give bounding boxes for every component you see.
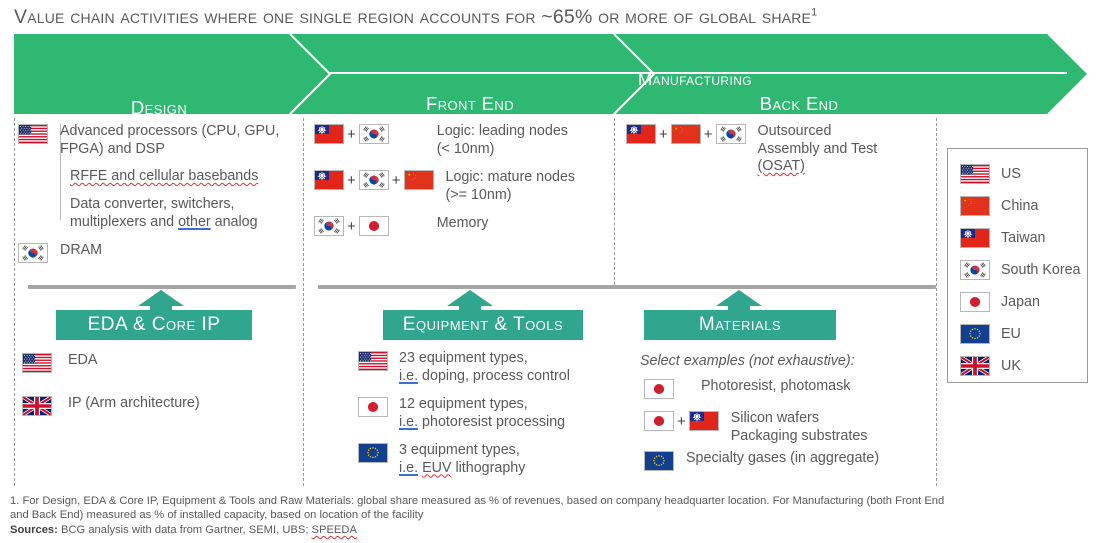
eu-flag-icon (358, 443, 388, 463)
eda-item-2: IP (Arm architecture) (22, 395, 272, 416)
design-item-4: DRAM (18, 242, 248, 263)
equipment-item-1-line2: doping, process control (418, 368, 570, 384)
equipment-item-2-line1: 12 equipment types, (399, 396, 528, 412)
eda-item-2-line1: IP (Arm architecture) (68, 395, 200, 413)
column-divider-frontend-backend (614, 118, 615, 285)
legend-row-uk: UK (960, 350, 1087, 382)
legend-row-us: US (960, 158, 1087, 190)
frontend-item-3-line1: Memory (437, 215, 489, 233)
design-item-1-flags (18, 123, 48, 144)
eda-item-1-flags (22, 352, 52, 373)
page-title-text: Value chain activities where one single … (14, 6, 811, 28)
japan-flag-icon (960, 292, 990, 312)
japan-flag-icon (644, 411, 674, 431)
frontend-item-3: + Memory (314, 215, 604, 236)
materials-item-3-line1: Specialty gases (in aggregate) (686, 450, 879, 468)
eda-core-ip-label: EDA & Core IP (56, 314, 252, 336)
us-flag-icon (18, 124, 48, 144)
design-item-1: Advanced processors (CPU, GPU, FPGA) and… (18, 123, 293, 158)
taiwan-flag-icon (314, 170, 344, 190)
eu-flag-icon (960, 324, 990, 344)
equipment-item-3-ie: i.e. (399, 460, 418, 476)
design-item-1-line1: Advanced processors (CPU, GPU, (60, 123, 279, 139)
plus-sign: + (677, 413, 686, 430)
divider-rule-design (28, 285, 296, 289)
legend-label-eu: EU (1001, 326, 1021, 342)
backend-item-1-line1: Outsourced (758, 123, 832, 139)
legend-row-japan: Japan (960, 286, 1087, 318)
backend-item-1-line3: (OSAT) (758, 158, 805, 174)
equipment-item-3-flags (358, 442, 388, 463)
south-korea-flag-icon (960, 260, 990, 280)
equipment-item-2-flags (358, 396, 388, 417)
equipment-tools-box: Equipment & Tools (383, 310, 583, 340)
eu-flag-icon (644, 451, 674, 471)
frontend-item-1: + Logic: leading nodes (< 10nm) (314, 123, 604, 158)
materials-item-1-line1: Photoresist, photomask (701, 378, 850, 396)
materials-item-2-line2: Packaging substrates (731, 428, 868, 444)
frontend-item-1-line2: (< 10nm) (437, 141, 495, 157)
divider-rule-manufacturing (318, 285, 936, 289)
plus-sign: + (347, 218, 356, 235)
materials-item-3-flags (644, 450, 674, 471)
value-chain-banner: Manufacturing Design Front End Wafer fab… (14, 34, 1087, 114)
materials-item-2-line1: Silicon wafers (731, 410, 819, 426)
plus-sign: + (347, 172, 356, 189)
footnote-line-2: and Back End) measured as % of installed… (10, 508, 1095, 522)
taiwan-flag-icon (314, 124, 344, 144)
frontend-item-2: + + Logic: mature nodes (>= 10nm) (314, 169, 604, 204)
design-item-1-line2: FPGA) and DSP (60, 141, 165, 157)
eda-item-2-flags (22, 395, 52, 416)
materials-item-2-flags: + (644, 410, 719, 431)
us-flag-icon (358, 351, 388, 371)
equipment-item-3: 3 equipment types, i.e. EUV lithography (358, 442, 628, 477)
equipment-item-1-flags (358, 350, 388, 371)
south-korea-flag-icon (314, 216, 344, 236)
sources-spell-word: SPEEDA (312, 524, 357, 536)
equipment-item-2-line2: photoresist processing (418, 414, 565, 430)
eda-item-1: EDA (22, 352, 272, 373)
japan-flag-icon (644, 379, 674, 399)
equipment-item-1: 23 equipment types, i.e. doping, process… (358, 350, 628, 385)
sources-text: BCG analysis with data from Gartner, SEM… (58, 524, 357, 536)
legend-label-south-korea: South Korea (1001, 262, 1081, 278)
south-korea-flag-icon (359, 124, 389, 144)
sources-label: Sources: (10, 524, 58, 536)
us-flag-icon (960, 164, 990, 184)
design-item-3-grammar-word: other (178, 214, 211, 230)
plus-sign: + (659, 126, 668, 143)
equipment-item-1-line1: 23 equipment types, (399, 350, 528, 366)
page-title-footnote-marker: 1 (811, 7, 817, 19)
taiwan-flag-icon (689, 411, 719, 431)
sources-line: Sources: BCG analysis with data from Gar… (10, 523, 1095, 537)
materials-item-1: Photoresist, photomask (644, 378, 944, 399)
equipment-item-3-line1: 3 equipment types, (399, 442, 520, 458)
eda-core-ip-box: EDA & Core IP (56, 310, 252, 340)
frontend-item-1-line1: Logic: leading nodes (437, 123, 568, 139)
equipment-tools-label: Equipment & Tools (383, 314, 583, 336)
frontend-item-2-flags: + + (314, 169, 434, 190)
south-korea-flag-icon (716, 124, 746, 144)
legend-label-japan: Japan (1001, 294, 1040, 310)
frontend-item-2-line1: Logic: mature nodes (446, 169, 576, 185)
materials-item-2: + Silicon wafers Packaging substrates (644, 410, 944, 445)
frontend-item-3-flags: + (314, 215, 389, 236)
design-item-3: Data converter, switchers, multiplexers … (70, 196, 300, 231)
eda-item-1-line1: EDA (68, 352, 97, 370)
materials-box: Materials (644, 310, 836, 340)
materials-item-1-flags (644, 378, 674, 399)
materials-label: Materials (644, 314, 836, 336)
south-korea-flag-icon (18, 243, 48, 263)
equipment-item-3-spell-word: EUV (422, 460, 451, 476)
china-flag-icon (671, 124, 701, 144)
japan-flag-icon (359, 216, 389, 236)
materials-item-3: Specialty gases (in aggregate) (644, 450, 944, 471)
plus-sign: + (704, 126, 713, 143)
backend-item-1: + + Outsourced Assembly and Test (OSAT) (626, 123, 926, 176)
legend-row-china: China (960, 190, 1087, 222)
plus-sign: + (392, 172, 401, 189)
country-legend: US China Taiwan South Korea Japan EU UK (947, 148, 1088, 383)
column-divider-design-frontend (303, 118, 304, 486)
design-item-4-flags (18, 242, 48, 263)
page-title: Value chain activities where one single … (14, 6, 817, 29)
japan-flag-icon (358, 397, 388, 417)
frontend-item-1-flags: + (314, 123, 389, 144)
backend-item-1-line2: Assembly and Test (758, 141, 878, 157)
legend-row-south-korea: South Korea (960, 254, 1087, 286)
design-item-4-line1: DRAM (60, 242, 102, 260)
materials-note-text: Select examples (not exhaustive): (640, 353, 855, 371)
uk-flag-icon (960, 356, 990, 376)
legend-label-china: China (1001, 198, 1038, 214)
uk-flag-icon (22, 396, 52, 416)
footnotes: 1. For Design, EDA & Core IP, Equipment … (10, 494, 1095, 537)
legend-label-taiwan: Taiwan (1001, 230, 1046, 246)
equipment-item-2-ie: i.e. (399, 414, 418, 430)
design-item-3-line2: multiplexers and other analog (70, 214, 258, 230)
column-divider-left (14, 118, 15, 486)
legend-row-eu: EU (960, 318, 1087, 350)
us-flag-icon (22, 353, 52, 373)
taiwan-flag-icon (626, 124, 656, 144)
equipment-item-3-line2-rest: lithography (455, 460, 525, 476)
china-flag-icon (404, 170, 434, 190)
equipment-item-2: 12 equipment types, i.e. photoresist pro… (358, 396, 628, 431)
china-flag-icon (960, 196, 990, 216)
materials-note: Select examples (not exhaustive): (640, 353, 940, 371)
plus-sign: + (347, 126, 356, 143)
design-item-3-line1: Data converter, switchers, (70, 196, 234, 212)
taiwan-flag-icon (960, 228, 990, 248)
legend-label-us: US (1001, 166, 1021, 182)
footnote-line-1: 1. For Design, EDA & Core IP, Equipment … (10, 494, 1095, 508)
equipment-item-1-ie: i.e. (399, 368, 418, 384)
design-item-2-line1: RFFE and cellular basebands (70, 168, 258, 184)
legend-row-taiwan: Taiwan (960, 222, 1087, 254)
south-korea-flag-icon (359, 170, 389, 190)
legend-label-uk: UK (1001, 358, 1021, 374)
design-item-2: RFFE and cellular basebands (70, 168, 300, 186)
backend-item-1-flags: + + (626, 123, 746, 144)
frontend-item-2-line2: (>= 10nm) (446, 187, 512, 203)
